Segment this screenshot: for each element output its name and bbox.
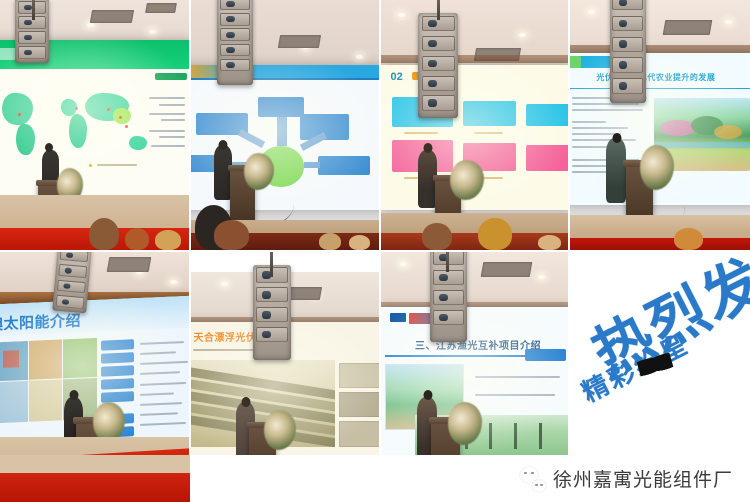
collage-photo-4: 光伏农业与现代农业提升的发展 <box>570 0 750 250</box>
slide-section-number: 02 <box>391 71 403 83</box>
wechat-icon <box>520 466 546 492</box>
caption-strip: 徐州嘉寓光能组件厂 <box>190 455 750 502</box>
collage-photo-1 <box>0 0 189 250</box>
slide-world-map <box>0 40 189 195</box>
photo-collage: 02 <box>0 0 750 502</box>
collage-photo-3: 02 <box>381 0 568 250</box>
caption-text: 徐州嘉寓光能组件厂 <box>553 465 733 492</box>
slide-title-company: 澳太阳能介绍 <box>0 309 81 334</box>
collage-photo-2 <box>191 0 379 250</box>
caption-background-bleed <box>0 455 190 502</box>
